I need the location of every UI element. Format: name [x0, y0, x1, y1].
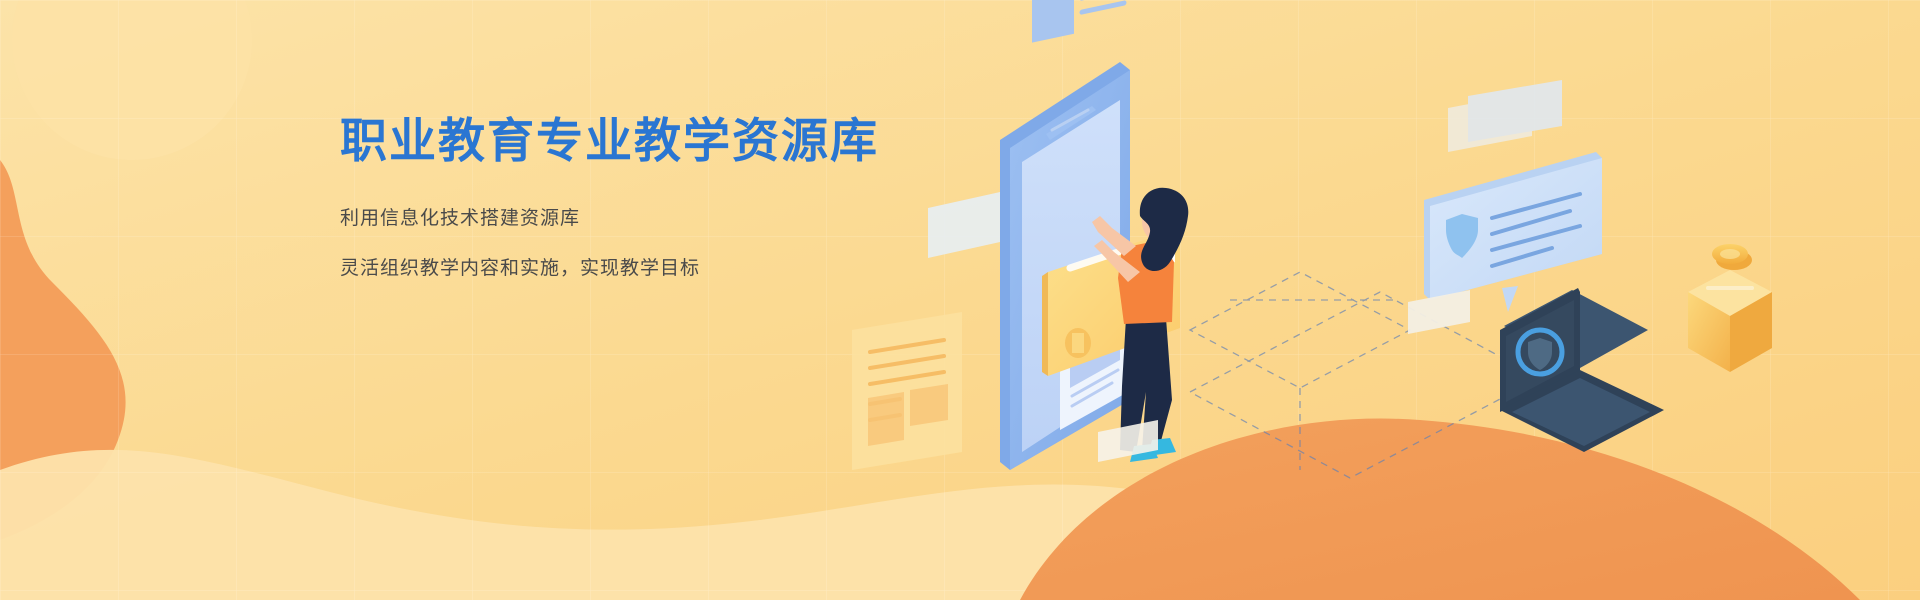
subtitle-line-2: 灵活组织教学内容和实施，实现教学目标: [340, 255, 1040, 284]
subtitle-line-1: 利用信息化技术搭建资源库: [340, 205, 1040, 234]
page-title: 职业教育专业教学资源库: [340, 112, 1040, 171]
coin-box: [1688, 244, 1772, 372]
document-card: [852, 312, 962, 470]
coin-icon: [1712, 244, 1752, 270]
hero-banner: 职业教育专业教学资源库 利用信息化技术搭建资源库 灵活组织教学内容和实施，实现教…: [0, 0, 1920, 600]
bubble-tail: [1502, 286, 1518, 312]
card-chip: [1065, 328, 1091, 358]
laptop: [1500, 288, 1664, 452]
hero-copy: 职业教育专业教学资源库 利用信息化技术搭建资源库 灵活组织教学内容和实施，实现教…: [340, 112, 1040, 284]
speech-bubble: [1424, 152, 1602, 312]
floating-tag-right: [1408, 290, 1470, 334]
floating-card-left-2: [1448, 80, 1562, 152]
hero-illustration: [0, 0, 1920, 600]
phone-screen-content: [1032, 0, 1140, 43]
